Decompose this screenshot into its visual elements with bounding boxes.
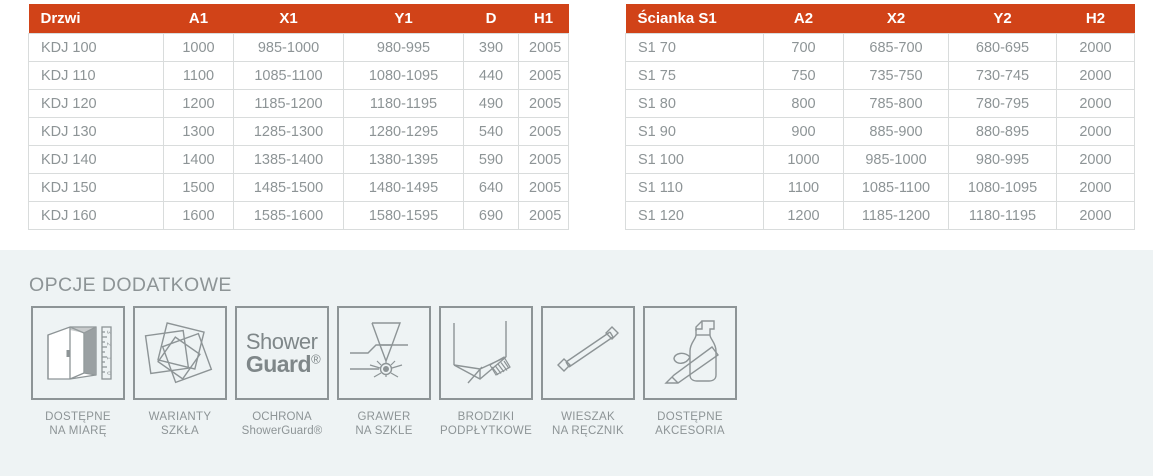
cell-h2: 2000	[1057, 146, 1135, 174]
option-caption: WARIANTY SZKŁA	[149, 410, 212, 438]
cell-d: 490	[464, 90, 519, 118]
cell-d: 390	[464, 34, 519, 62]
cell-y1: 980-995	[344, 34, 464, 62]
option-icon-box: Shower Guard®	[235, 306, 329, 400]
cell-y2: 680-695	[949, 34, 1057, 62]
cell-model: S1 90	[626, 118, 764, 146]
options-section-title: OPCJE DODATKOWE	[29, 274, 232, 297]
cell-x2: 685-700	[844, 34, 949, 62]
cell-h2: 2000	[1057, 62, 1135, 90]
cell-y2: 780-795	[949, 90, 1057, 118]
shower-tray-icon	[448, 317, 524, 389]
doors-dimensions-table: Drzwi A1 X1 Y1 D H1 KDJ 100 1000 985-100…	[28, 4, 569, 230]
cell-a2: 1000	[764, 146, 844, 174]
cell-h1: 2005	[519, 34, 569, 62]
options-icon-row: 3 2 1 0 DOSTĘPNE NA MIARĘ	[28, 306, 740, 438]
table-row: KDJ 140 1400 1385-1400 1380-1395 590 200…	[29, 146, 569, 174]
option-undertile-shower-trays[interactable]: BRODZIKI PODPŁYTKOWE	[436, 306, 536, 438]
cell-model: KDJ 100	[29, 34, 164, 62]
cell-y1: 1480-1495	[344, 174, 464, 202]
table-row: KDJ 100 1000 985-1000 980-995 390 2005	[29, 34, 569, 62]
option-made-to-measure[interactable]: 3 2 1 0 DOSTĘPNE NA MIARĘ	[28, 306, 128, 438]
cell-a2: 700	[764, 34, 844, 62]
table-row: S1 75 750 735-750 730-745 2000	[626, 62, 1135, 90]
column-header-d: D	[464, 4, 519, 34]
cell-y2: 1080-1095	[949, 174, 1057, 202]
cell-y1: 1380-1395	[344, 146, 464, 174]
cell-model: S1 75	[626, 62, 764, 90]
cell-y2: 980-995	[949, 146, 1057, 174]
cell-model: KDJ 160	[29, 202, 164, 230]
svg-text:3: 3	[105, 330, 111, 334]
cell-h1: 2005	[519, 118, 569, 146]
cell-h1: 2005	[519, 90, 569, 118]
cell-a1: 1500	[164, 174, 234, 202]
cell-model: KDJ 140	[29, 146, 164, 174]
table-row: S1 80 800 785-800 780-795 2000	[626, 90, 1135, 118]
engraving-tool-icon	[346, 317, 422, 389]
cell-h1: 2005	[519, 146, 569, 174]
column-header-drzwi: Drzwi	[29, 4, 164, 34]
option-glass-variants[interactable]: WARIANTY SZKŁA	[130, 306, 230, 438]
table-row: KDJ 120 1200 1185-1200 1180-1195 490 200…	[29, 90, 569, 118]
cell-model: S1 80	[626, 90, 764, 118]
cell-a1: 1600	[164, 202, 234, 230]
cell-y2: 1180-1195	[949, 202, 1057, 230]
cell-model: S1 100	[626, 146, 764, 174]
spray-bottle-squeegee-icon	[652, 317, 728, 389]
option-caption: BRODZIKI PODPŁYTKOWE	[440, 410, 532, 438]
cell-a1: 1000	[164, 34, 234, 62]
column-header-h1: H1	[519, 4, 569, 34]
cell-a1: 1100	[164, 62, 234, 90]
cell-x1: 1385-1400	[234, 146, 344, 174]
table-header-row: Ścianka S1 A2 X2 Y2 H2	[626, 4, 1135, 34]
cell-a1: 1400	[164, 146, 234, 174]
option-icon-box	[541, 306, 635, 400]
cell-model: KDJ 110	[29, 62, 164, 90]
cell-x1: 1285-1300	[234, 118, 344, 146]
column-header-a1: A1	[164, 4, 234, 34]
cell-h2: 2000	[1057, 174, 1135, 202]
column-header-h2: H2	[1057, 4, 1135, 34]
cell-y1: 1180-1195	[344, 90, 464, 118]
column-header-scianka-s1: Ścianka S1	[626, 4, 764, 34]
cell-model: KDJ 150	[29, 174, 164, 202]
option-caption: GRAWER NA SZKLE	[355, 410, 412, 438]
option-caption: OCHRONA ShowerGuard®	[242, 410, 323, 438]
cell-y1: 1280-1295	[344, 118, 464, 146]
column-header-x1: X1	[234, 4, 344, 34]
cell-x2: 735-750	[844, 62, 949, 90]
cell-y1: 1080-1095	[344, 62, 464, 90]
cell-a1: 1300	[164, 118, 234, 146]
cell-h2: 2000	[1057, 118, 1135, 146]
column-header-y1: Y1	[344, 4, 464, 34]
wall-panel-dimensions-table: Ścianka S1 A2 X2 Y2 H2 S1 70 700 685-700…	[625, 4, 1135, 230]
svg-text:0: 0	[105, 371, 111, 375]
cell-x1: 1085-1100	[234, 62, 344, 90]
showerguard-logo-bottom: Guard®	[246, 353, 320, 376]
cell-x1: 985-1000	[234, 34, 344, 62]
additional-options-panel: OPCJE DODATKOWE	[0, 250, 1153, 476]
registered-mark-icon: ®	[311, 351, 320, 366]
column-header-a2: A2	[764, 4, 844, 34]
showerguard-logo-icon: Shower Guard®	[244, 331, 320, 375]
table-row: KDJ 160 1600 1585-1600 1580-1595 690 200…	[29, 202, 569, 230]
cell-model: S1 110	[626, 174, 764, 202]
table-row: S1 120 1200 1185-1200 1180-1195 2000	[626, 202, 1135, 230]
showerguard-logo-top: Shower	[246, 331, 320, 353]
option-caption: DOSTĘPNE NA MIARĘ	[45, 410, 111, 438]
option-available-accessories[interactable]: DOSTĘPNE AKCESORIA	[640, 306, 740, 438]
cell-model: KDJ 120	[29, 90, 164, 118]
spec-tables-area: Drzwi A1 X1 Y1 D H1 KDJ 100 1000 985-100…	[0, 0, 1153, 240]
cell-model: KDJ 130	[29, 118, 164, 146]
cell-h1: 2005	[519, 202, 569, 230]
shower-enclosure-ruler-icon: 3 2 1 0	[40, 317, 116, 389]
cell-model: S1 120	[626, 202, 764, 230]
cell-x1: 1585-1600	[234, 202, 344, 230]
cell-h2: 2000	[1057, 34, 1135, 62]
option-caption: WIESZAK NA RĘCZNIK	[552, 410, 624, 438]
option-icon-box	[643, 306, 737, 400]
table-row: S1 70 700 685-700 680-695 2000	[626, 34, 1135, 62]
option-glass-engraving[interactable]: GRAWER NA SZKLE	[334, 306, 434, 438]
cell-y2: 730-745	[949, 62, 1057, 90]
cell-d: 440	[464, 62, 519, 90]
svg-text:2: 2	[105, 342, 111, 346]
cell-d: 590	[464, 146, 519, 174]
svg-text:1: 1	[105, 356, 111, 360]
cell-x2: 1085-1100	[844, 174, 949, 202]
option-icon-box	[133, 306, 227, 400]
cell-h1: 2005	[519, 174, 569, 202]
cell-d: 690	[464, 202, 519, 230]
cell-h1: 2005	[519, 62, 569, 90]
cell-a2: 1100	[764, 174, 844, 202]
cell-y2: 880-895	[949, 118, 1057, 146]
cell-x1: 1485-1500	[234, 174, 344, 202]
option-icon-box	[439, 306, 533, 400]
table-row: S1 110 1100 1085-1100 1080-1095 2000	[626, 174, 1135, 202]
option-icon-box	[337, 306, 431, 400]
cell-model: S1 70	[626, 34, 764, 62]
cell-x2: 885-900	[844, 118, 949, 146]
cell-h2: 2000	[1057, 90, 1135, 118]
cell-a2: 900	[764, 118, 844, 146]
table-row: KDJ 150 1500 1485-1500 1480-1495 640 200…	[29, 174, 569, 202]
cell-h2: 2000	[1057, 202, 1135, 230]
cell-a2: 750	[764, 62, 844, 90]
cell-x2: 1185-1200	[844, 202, 949, 230]
table-row: KDJ 130 1300 1285-1300 1280-1295 540 200…	[29, 118, 569, 146]
cell-a2: 800	[764, 90, 844, 118]
table-row: S1 100 1000 985-1000 980-995 2000	[626, 146, 1135, 174]
towel-rail-icon	[550, 317, 626, 389]
table-header-row: Drzwi A1 X1 Y1 D H1	[29, 4, 569, 34]
option-icon-box: 3 2 1 0	[31, 306, 125, 400]
option-showerguard-protection[interactable]: Shower Guard® OCHRONA ShowerGuard®	[232, 306, 332, 438]
cell-d: 640	[464, 174, 519, 202]
column-header-y2: Y2	[949, 4, 1057, 34]
cell-d: 540	[464, 118, 519, 146]
column-header-x2: X2	[844, 4, 949, 34]
cell-a1: 1200	[164, 90, 234, 118]
table-row: S1 90 900 885-900 880-895 2000	[626, 118, 1135, 146]
cell-y1: 1580-1595	[344, 202, 464, 230]
option-caption: DOSTĘPNE AKCESORIA	[655, 410, 725, 438]
cell-a2: 1200	[764, 202, 844, 230]
table-row: KDJ 110 1100 1085-1100 1080-1095 440 200…	[29, 62, 569, 90]
glass-panes-icon	[142, 317, 218, 389]
option-towel-rail[interactable]: WIESZAK NA RĘCZNIK	[538, 306, 638, 438]
cell-x1: 1185-1200	[234, 90, 344, 118]
cell-x2: 785-800	[844, 90, 949, 118]
cell-x2: 985-1000	[844, 146, 949, 174]
